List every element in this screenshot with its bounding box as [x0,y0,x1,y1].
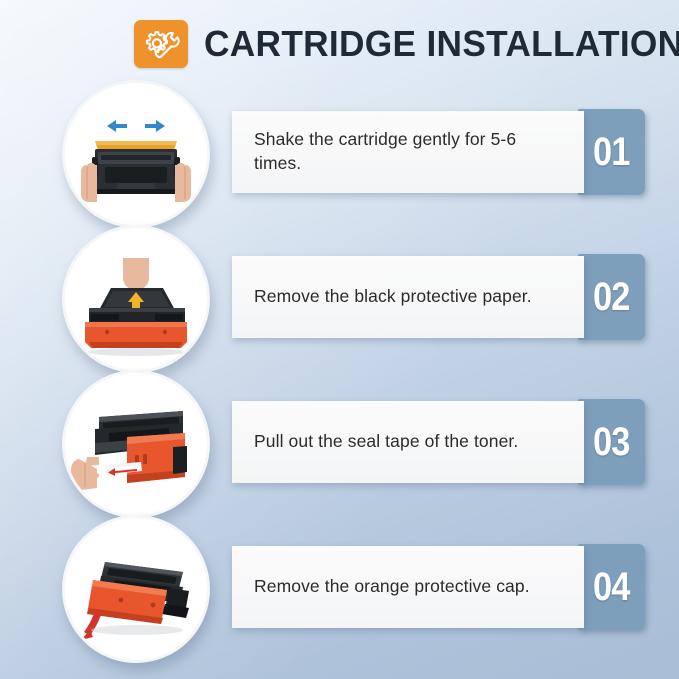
steps-list: 01 Shake the cartridge gently for 5-6 ti… [0,75,679,655]
step-image-03 [62,370,210,518]
step-number: 01 [593,130,630,175]
step-text: Shake the cartridge gently for 5-6 times… [254,128,568,175]
step-image-02 [62,225,210,373]
step-card-body: Pull out the seal tape of the toner. [232,401,584,483]
step-row: 04 Remove the orange protective cap. [0,510,679,655]
step-text: Remove the black protective paper. [254,285,532,309]
step-card-body: Remove the black protective paper. [232,256,584,338]
step-card-01: 01 Shake the cartridge gently for 5-6 ti… [232,111,645,193]
step-number-badge: 04 [578,544,645,630]
step-text: Pull out the seal tape of the toner. [254,430,518,454]
step-number-badge: 02 [578,254,645,340]
step-row: 01 Shake the cartridge gently for 5-6 ti… [0,75,679,220]
cartridge-pull-seal-tape-photo [62,370,210,518]
cartridge-shake-two-hands-photo [62,80,210,228]
cartridge-remove-orange-cap-photo [62,515,210,663]
step-card-body: Shake the cartridge gently for 5-6 times… [232,111,584,193]
step-image-04 [62,515,210,663]
step-card-02: 02 Remove the black protective paper. [232,256,645,338]
step-number: 02 [593,275,630,320]
step-text: Remove the orange protective cap. [254,575,530,599]
page-header: CARTRIDGE INSTALLATION [134,20,679,68]
step-card-04: 04 Remove the orange protective cap. [232,546,645,628]
step-row: 03 Pull out the seal tape of the toner. [0,365,679,510]
step-row: 02 Remove the black protective paper. [0,220,679,365]
step-image-01 [62,80,210,228]
step-number: 04 [593,565,630,610]
step-number-badge: 01 [578,109,645,195]
step-number: 03 [593,420,630,465]
gear-wrench-icon [134,20,188,68]
step-card-body: Remove the orange protective cap. [232,546,584,628]
step-card-03: 03 Pull out the seal tape of the toner. [232,401,645,483]
cartridge-remove-black-paper-photo [62,225,210,373]
step-number-badge: 03 [578,399,645,485]
page-title: CARTRIDGE INSTALLATION [204,23,679,65]
